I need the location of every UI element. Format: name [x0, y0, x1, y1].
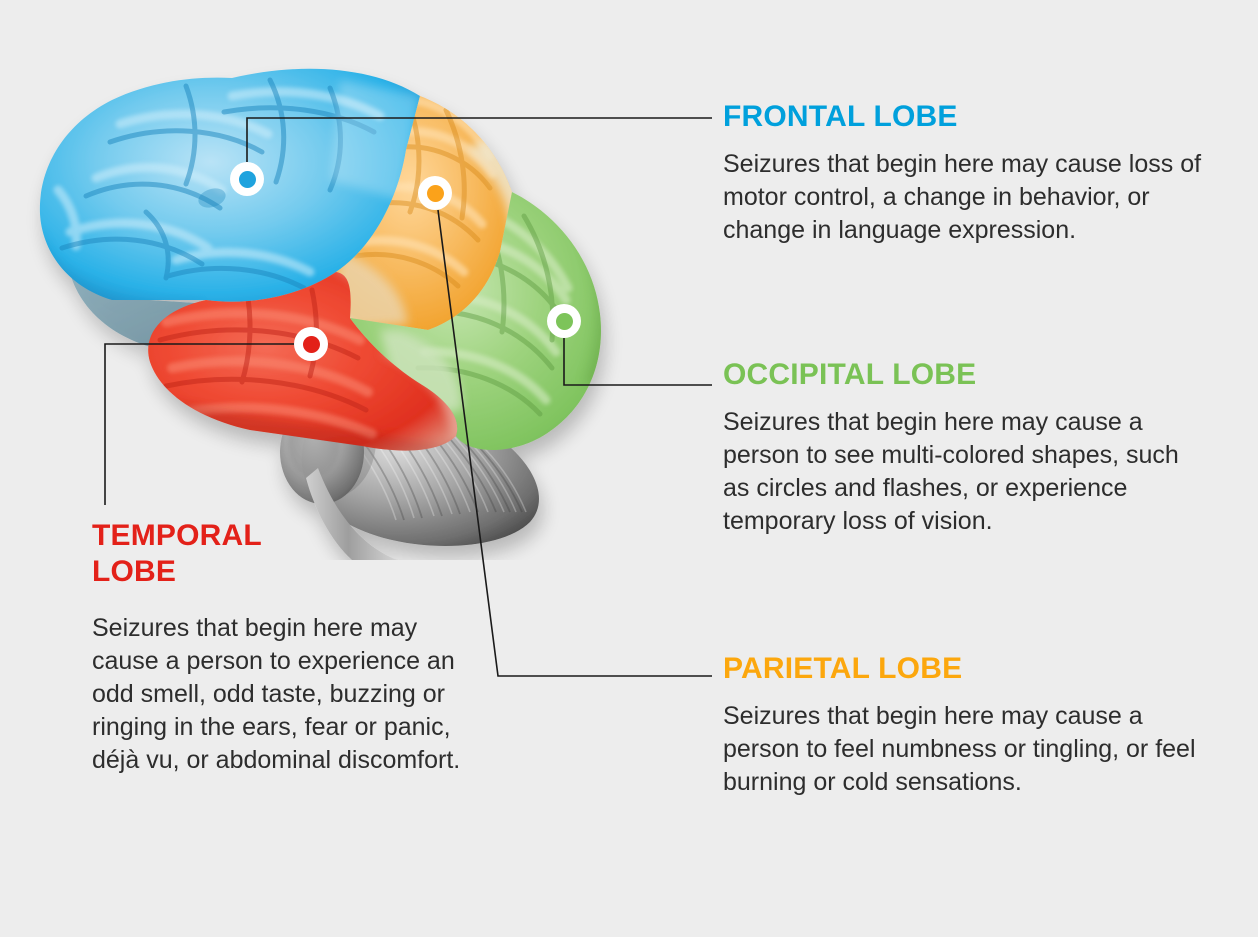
frontal-lobe-block: FRONTAL LOBE Seizures that begin here ma… [723, 100, 1203, 247]
brain-illustration [0, 0, 700, 560]
parietal-lobe-block: PARIETAL LOBE Seizures that begin here m… [723, 652, 1223, 799]
marker-frontal-lobe[interactable] [230, 162, 264, 196]
frontal-lobe-body: Seizures that begin here may cause loss … [723, 148, 1203, 247]
parietal-lobe-body: Seizures that begin here may cause a per… [723, 700, 1223, 799]
marker-temporal-lobe[interactable] [294, 327, 328, 361]
marker-core-parietal [427, 185, 444, 202]
temporal-lobe-heading: TEMPORAL LOBE [92, 518, 312, 590]
parietal-lobe-heading: PARIETAL LOBE [723, 652, 1223, 686]
occipital-lobe-body: Seizures that begin here may cause a per… [723, 406, 1193, 538]
marker-core-temporal [303, 336, 320, 353]
marker-occipital-lobe[interactable] [547, 304, 581, 338]
occipital-lobe-heading: OCCIPITAL LOBE [723, 358, 1193, 392]
occipital-lobe-block: OCCIPITAL LOBE Seizures that begin here … [723, 358, 1193, 538]
temporal-lobe-body: Seizures that begin here may cause a per… [92, 612, 472, 777]
infographic-canvas: FRONTAL LOBE Seizures that begin here ma… [0, 0, 1258, 937]
marker-core-occipital [556, 313, 573, 330]
marker-parietal-lobe[interactable] [418, 176, 452, 210]
frontal-lobe-heading: FRONTAL LOBE [723, 100, 1203, 134]
marker-core-frontal [239, 171, 256, 188]
brain-diagram-svg [0, 0, 700, 560]
temporal-lobe-block: TEMPORAL LOBE Seizures that begin here m… [92, 518, 472, 777]
